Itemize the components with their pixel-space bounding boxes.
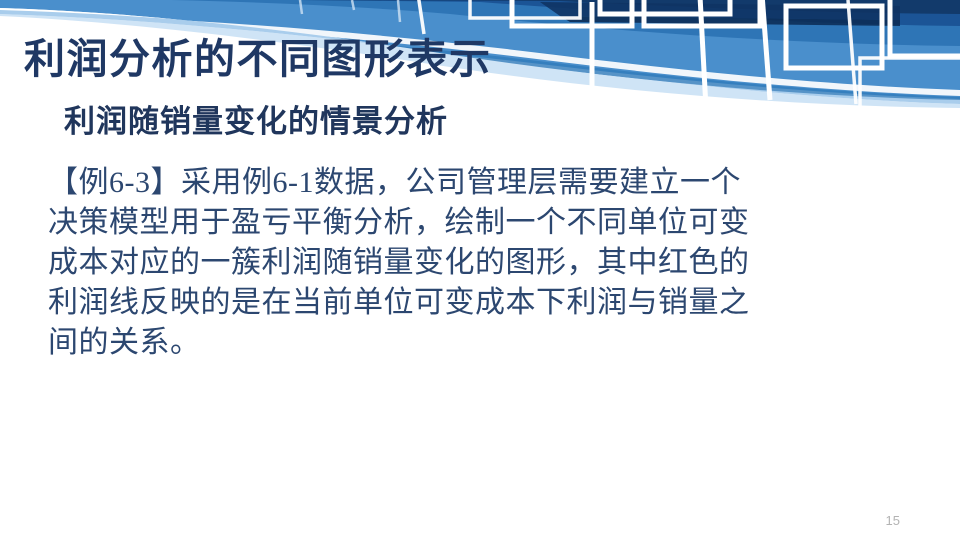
page-subtitle: 利润随销量变化的情景分析 bbox=[64, 101, 448, 143]
body-line: 利润线反映的是在当前单位可变成本下利润与销量之 bbox=[48, 283, 912, 323]
body-line: 【例6-3】采用例6-1数据，公司管理层需要建立一个 bbox=[48, 163, 912, 203]
body-paragraph: 【例6-3】采用例6-1数据，公司管理层需要建立一个 决策模型用于盈亏平衡分析，… bbox=[48, 163, 912, 363]
slide-canvas: 利润分析的不同图形表示 利润随销量变化的情景分析 【例6-3】采用例6-1数据，… bbox=[0, 0, 960, 540]
body-line: 成本对应的一簇利润随销量变化的图形，其中红色的 bbox=[48, 243, 912, 283]
page-title: 利润分析的不同图形表示 bbox=[24, 33, 492, 85]
body-line: 间的关系。 bbox=[48, 323, 912, 363]
page-number: 15 bbox=[886, 513, 900, 528]
body-line: 决策模型用于盈亏平衡分析，绘制一个不同单位可变 bbox=[48, 203, 912, 243]
